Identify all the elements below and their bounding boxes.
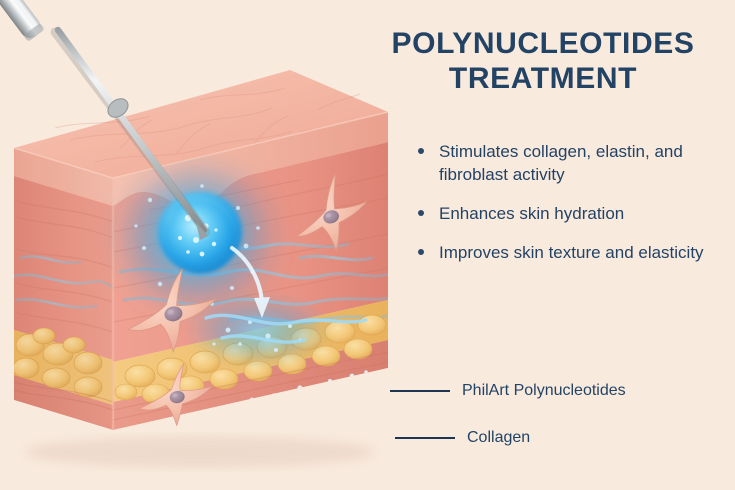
callout-leader-line	[390, 390, 450, 392]
block-shadow	[25, 436, 375, 468]
benefits-list: Stimulates collagen, elastin, and fibrob…	[418, 140, 728, 280]
bullet-dot-icon	[418, 148, 424, 154]
poster-canvas: POLYNUCLEOTIDES TREATMENT Stimulates col…	[0, 0, 735, 490]
list-item-label: Improves skin texture and elasticity	[439, 243, 704, 262]
list-item-label: Enhances skin hydration	[439, 204, 624, 223]
bullet-dot-icon	[418, 210, 424, 216]
title-line-2: TREATMENT	[360, 61, 726, 96]
left-face	[13, 148, 113, 430]
callout-collagen: Collagen	[395, 428, 735, 448]
skin-cross-section-illustration	[0, 0, 400, 490]
text-column: POLYNUCLEOTIDES TREATMENT Stimulates col…	[360, 0, 735, 490]
title-line-1: POLYNUCLEOTIDES	[392, 27, 695, 60]
list-item: Improves skin texture and elasticity	[418, 241, 728, 264]
list-item: Enhances skin hydration	[418, 202, 728, 225]
callout-philart-polynucleotides: PhilArt Polynucleotides	[390, 381, 735, 401]
callout-label: Collagen	[467, 428, 530, 448]
bullet-dot-icon	[418, 249, 424, 255]
list-item: Stimulates collagen, elastin, and fibrob…	[418, 140, 728, 186]
callout-leader-line	[395, 437, 455, 439]
page-title: POLYNUCLEOTIDES TREATMENT	[360, 26, 726, 96]
callout-label: PhilArt Polynucleotides	[462, 381, 626, 401]
list-item-label: Stimulates collagen, elastin, and fibrob…	[439, 142, 683, 184]
